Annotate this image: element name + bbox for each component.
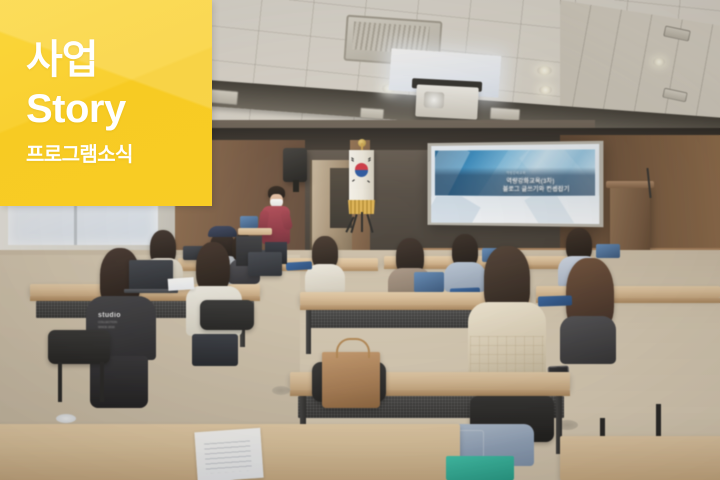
laptop <box>596 244 620 258</box>
floor-vent <box>272 386 290 395</box>
presenter-laptop <box>240 216 258 228</box>
downlight-icon <box>653 58 665 66</box>
bag-handle <box>336 338 370 358</box>
banner-text-block: 사업 Story 프로그램소식 <box>0 0 212 206</box>
foreground-desk-right <box>560 436 720 480</box>
ceiling-vent <box>490 107 521 121</box>
teal-folder <box>446 456 514 480</box>
projector-lens-icon <box>424 91 445 108</box>
tote-bag <box>322 352 380 408</box>
cap-icon <box>208 226 237 237</box>
downlight-icon <box>537 66 552 75</box>
attendee-lower-body <box>192 334 238 366</box>
downlight-icon <box>539 86 552 94</box>
banner-line-3: 프로그램소식 <box>26 144 212 166</box>
laptop <box>248 252 282 276</box>
tablet <box>286 261 312 270</box>
desk-leg <box>306 310 311 354</box>
banner-line-1: 사업 <box>26 40 212 80</box>
wall-speaker <box>283 148 307 182</box>
laptop <box>414 272 444 292</box>
lecture-room-photo: 역량강화교육 역량강화교육(3차) 블로그 글쓰기와 컨셉잡기 <box>0 0 720 480</box>
flag-stand <box>349 212 375 232</box>
projection-screen-lower-graphic <box>431 196 599 224</box>
slide-eyebrow: 역량강화교육 <box>506 170 526 175</box>
hoodie-brand-text: studio <box>98 312 121 319</box>
laptop <box>129 260 173 290</box>
speaker-bracket <box>293 180 299 192</box>
flag-taeguk-red <box>355 163 368 170</box>
banner-line-2: Story <box>26 88 212 131</box>
chair <box>200 300 254 330</box>
presenter-table <box>238 228 272 235</box>
chair-leg <box>100 362 104 402</box>
tablet <box>538 295 572 306</box>
ceiling-vent <box>360 107 385 120</box>
slide-subtitle: 블로그 글쓰기와 컨셉잡기 <box>503 184 570 193</box>
small-object <box>56 414 76 423</box>
ceiling-vent <box>209 89 238 105</box>
chair-leg <box>58 362 62 402</box>
chair <box>48 330 110 364</box>
handout-paper <box>168 277 195 291</box>
podium-top <box>606 181 654 188</box>
handout-paper-lines <box>204 440 252 473</box>
